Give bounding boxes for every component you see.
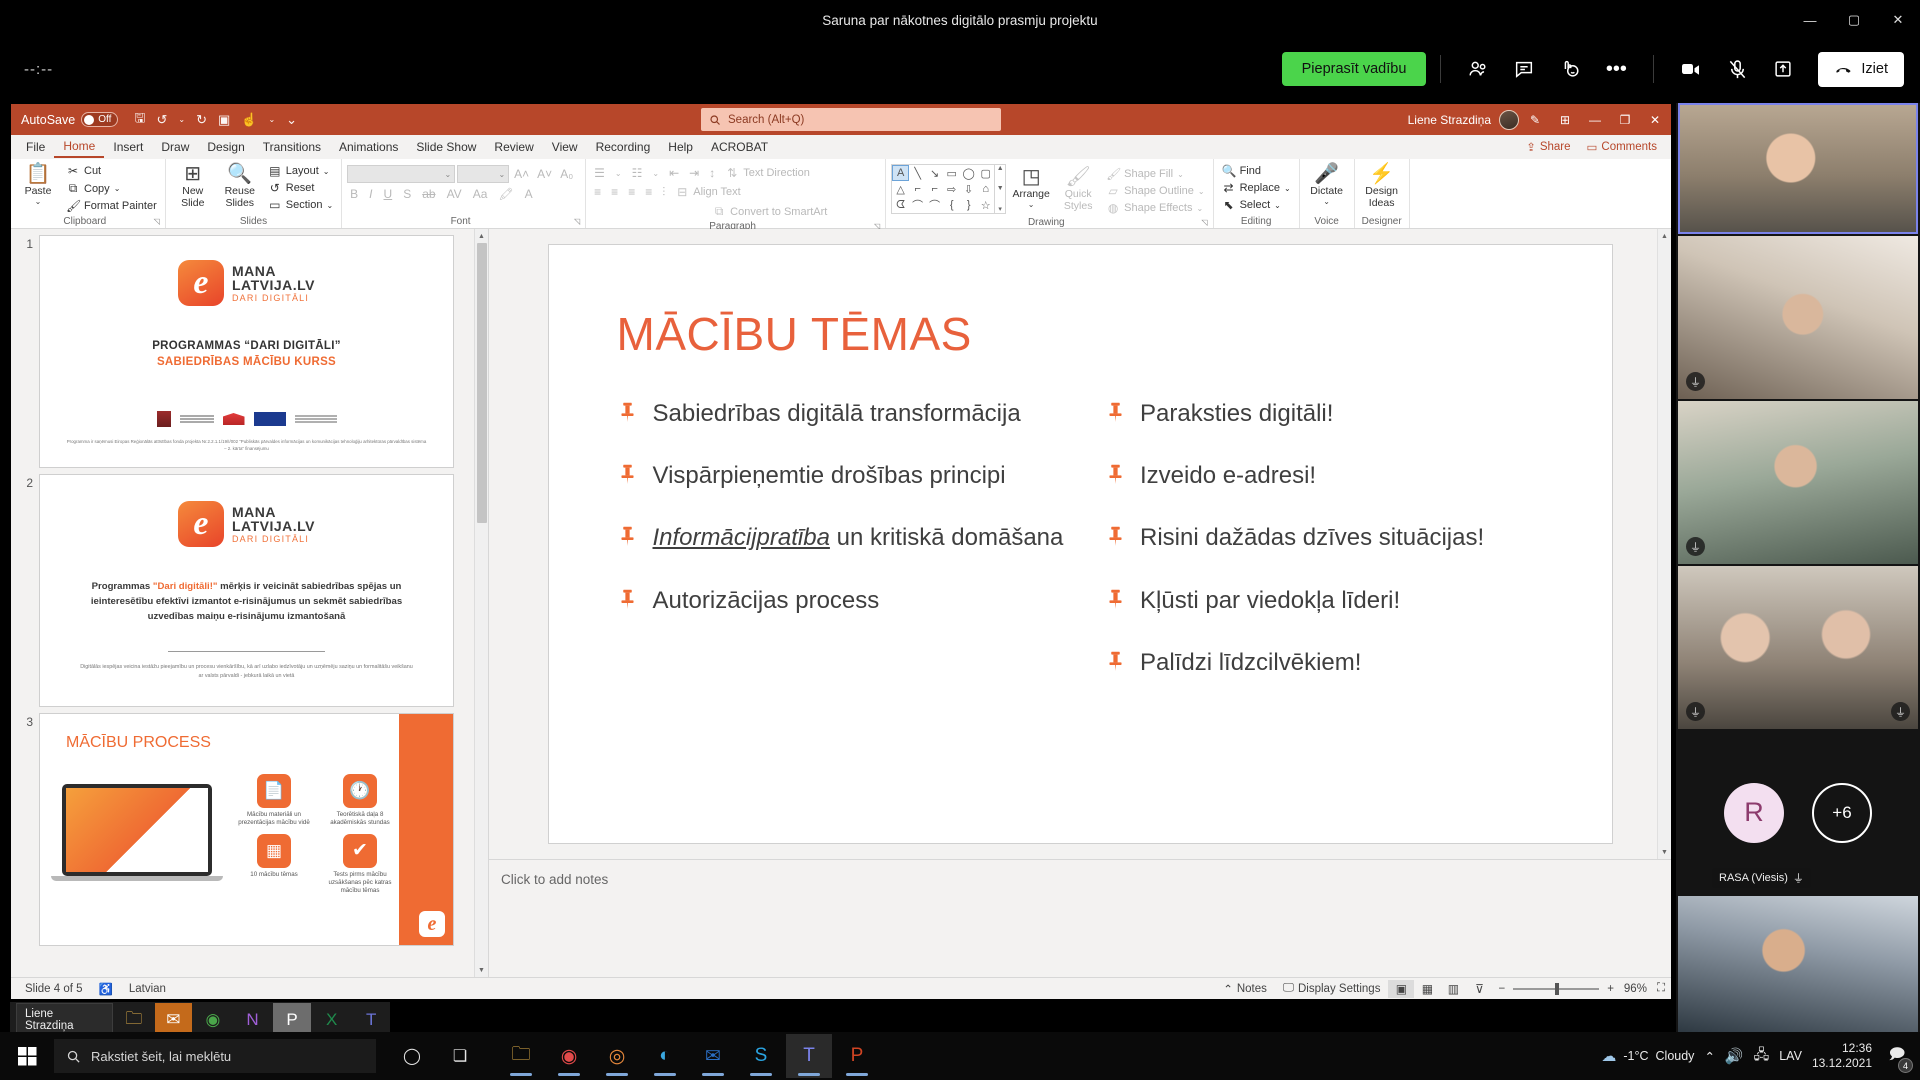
pushpin-icon: [617, 395, 639, 423]
text-direction-label: Text Direction: [743, 167, 810, 179]
stage-scrollbar[interactable]: ▲ ▼: [1657, 229, 1671, 859]
notes-label: Notes: [1237, 983, 1267, 995]
font-size-input[interactable]: ⌄: [457, 165, 509, 183]
thumbnails-scrollbar[interactable]: ▲ ▼: [474, 229, 488, 977]
share-screen-icon[interactable]: [1760, 49, 1806, 89]
speaker-icon[interactable]: 🔊: [1725, 1047, 1744, 1065]
windows-logo-icon: [18, 1047, 37, 1066]
share-button[interactable]: ⇪ Share: [1520, 138, 1576, 156]
shapes-more-icon[interactable]: ▾: [998, 205, 1002, 213]
clock-icon: 🕐: [343, 774, 377, 808]
ribbon-group-font: ⌄ ⌄ A˄ A˅ A₀ B I U S: [342, 159, 586, 228]
paste-chevron-icon[interactable]: ⌄: [35, 197, 42, 206]
participant-name-label: RASA (Viesis) ⏚: [1712, 868, 1811, 888]
autosave-state: Off: [98, 114, 111, 125]
ppt-status-bar: Slide 4 of 5 ♿ Latvian ⌃ Notes 🖵 Display…: [11, 977, 1671, 999]
windows-taskbar: Rakstiet šeit, lai meklētu ◯ ❏ 🗀 ◉ ◎ ◐ ✉…: [0, 1032, 1920, 1080]
tab-view[interactable]: View: [543, 137, 587, 157]
italic-button[interactable]: I: [366, 187, 375, 201]
ribbon-group-paragraph: ☰ ⌄ ☷ ⌄ ⇤ ⇥ ↕ ⇅ Text Direction ≡: [586, 159, 886, 228]
ppt-user-name: Liene Strazdiņa: [1408, 113, 1491, 127]
shapes-gallery[interactable]: A ╲ ↘ ▭ ◯ ▢ △ ⌐ ⌐ ⇨ ⇩ ⌂ ᗧ: [891, 164, 1006, 214]
touch-mode-icon[interactable]: ☝: [237, 110, 261, 130]
undo-icon[interactable]: ↺: [152, 110, 171, 130]
stage-canvas[interactable]: MĀCĪBU TĒMAS Sabiedrības digitālā transf…: [489, 229, 1671, 859]
normal-view-button[interactable]: ▣: [1388, 980, 1414, 998]
logo2-line2: LATVIJA.LV: [232, 519, 315, 533]
network-icon[interactable]: 🖧: [1754, 1044, 1770, 1068]
teams-close-button[interactable]: ✕: [1876, 0, 1920, 40]
shape-right-brace-icon[interactable]: }: [960, 197, 977, 213]
zoom-level[interactable]: 96%: [1624, 983, 1647, 995]
thumb3-tile-3: ▦ 10 mācību tēmas: [236, 834, 312, 896]
slide-title: MĀCĪBU TĒMAS: [617, 307, 1566, 361]
section-chevron-icon[interactable]: ⌄: [326, 201, 333, 210]
avatar-participant-tile[interactable]: R +6 RASA (Viesis) ⏚: [1678, 731, 1918, 894]
find-button[interactable]: 🔍 Find: [1219, 163, 1294, 179]
design-ideas-label: Design Ideas: [1360, 185, 1404, 209]
dictate-button[interactable]: 🎤 Dictate ⌄: [1305, 161, 1349, 206]
shape-pentagon-icon[interactable]: ⌂: [977, 181, 994, 197]
save-icon[interactable]: 🖫: [130, 107, 149, 133]
thumbnail-row-1[interactable]: 1 e MANA LATVIJA.LV DARI DIGITĀLI PROGRA…: [11, 229, 488, 468]
mic-muted-icon: ⏚: [1686, 702, 1705, 721]
e-logo-mark-2: e: [178, 501, 224, 547]
ppt-minimize-icon[interactable]: —: [1581, 107, 1609, 133]
notes-pane[interactable]: Click to add notes: [489, 859, 1671, 977]
voice-group-label: Voice: [1305, 215, 1349, 228]
new-slide-button[interactable]: ⊞ New Slide: [171, 161, 215, 209]
thumb1-heading-dark: PROGRAMMAS “DARI DIGITĀLI”: [40, 340, 453, 352]
search-icon: [66, 1049, 81, 1064]
participant-tile[interactable]: [1678, 896, 1918, 1032]
clear-formatting-icon[interactable]: A₀: [557, 167, 576, 181]
e-logo-mark: e: [178, 260, 224, 306]
shape-outline-chevron-icon[interactable]: ⌄: [1198, 187, 1205, 196]
shape-outline-label: Shape Outline: [1124, 185, 1194, 197]
section-icon: ▭: [268, 198, 282, 212]
chat-icon[interactable]: [1501, 49, 1547, 89]
mana-latvija-logo-2: e MANA LATVIJA.LV DARI DIGITĀLI: [40, 501, 453, 547]
pushpin-icon: [617, 457, 639, 485]
tab-draw[interactable]: Draw: [152, 137, 198, 157]
eu-flag-icon: [254, 412, 286, 426]
avatar[interactable]: [1499, 110, 1519, 130]
teams-minimize-button[interactable]: —: [1788, 0, 1832, 40]
fit-to-window-icon[interactable]: ⛶: [1657, 982, 1665, 995]
comments-icon: ▭: [1587, 140, 1598, 154]
avatar: R: [1724, 783, 1784, 843]
reset-label: Reset: [286, 182, 315, 194]
justify-icon[interactable]: ≡: [642, 185, 655, 199]
comments-button[interactable]: ▭ Comments: [1581, 138, 1663, 156]
quick-styles-button[interactable]: 🖌 Quick Styles: [1056, 164, 1100, 212]
thumbnail-slide-1[interactable]: e MANA LATVIJA.LV DARI DIGITĀLI PROGRAMM…: [39, 235, 454, 468]
underline-button[interactable]: U: [381, 187, 396, 201]
thumbnail-row-3[interactable]: 3 e MĀCĪBU PROCESS �: [11, 707, 488, 946]
language-indicator[interactable]: LAV: [1779, 1049, 1802, 1063]
thumbs-scroll-up-icon[interactable]: ▲: [475, 229, 488, 243]
firefox-icon[interactable]: ◎: [594, 1034, 640, 1078]
replace-icon: ⇄: [1222, 181, 1236, 195]
align-center-icon[interactable]: ≡: [608, 185, 621, 199]
logo-line1: MANA: [232, 264, 315, 278]
decrease-indent-icon[interactable]: ⇤: [666, 166, 682, 180]
thumb3-e-badge: e: [419, 911, 445, 937]
ribbon-group-clipboard: 📋 Paste ⌄ ✂ Cut ⧉ Copy ⌄: [11, 159, 166, 228]
arrange-button[interactable]: ◳ Arrange ⌄: [1009, 164, 1053, 209]
shape-down-arrow-icon[interactable]: ⇩: [960, 181, 977, 197]
notes-placeholder: Click to add notes: [501, 872, 608, 887]
new-slide-label: New Slide: [171, 185, 215, 209]
camera-icon[interactable]: [1668, 49, 1714, 89]
shape-left-brace-icon[interactable]: {: [943, 197, 960, 213]
line-spacing-icon[interactable]: ↕: [706, 166, 718, 180]
teams-icon[interactable]: T: [786, 1034, 832, 1078]
bullet-item: Vispārpieņemtie drošības principi: [617, 457, 1079, 494]
reading-view-button[interactable]: ▥: [1440, 980, 1466, 998]
powerpoint-window: AutoSave Off 🖫 ↺ ⌄ ↻ ▣ ☝ ⌄ ⌄ Sabiedribas…: [10, 103, 1672, 1000]
shape-rect-icon[interactable]: ▭: [943, 165, 960, 181]
copy-button[interactable]: ⧉ Copy ⌄: [63, 180, 160, 197]
participant-tile[interactable]: ⏚: [1678, 401, 1918, 564]
arrange-chevron-icon[interactable]: ⌄: [1028, 200, 1035, 209]
thumb2-body-prefix: Programmas: [92, 581, 153, 592]
overflow-participants-badge[interactable]: +6: [1812, 783, 1872, 843]
tab-file[interactable]: File: [17, 137, 54, 157]
leave-label: Iziet: [1861, 61, 1888, 77]
taskbar-search-input[interactable]: Rakstiet šeit, lai meklētu: [54, 1039, 376, 1073]
pushpin-icon: [1104, 519, 1126, 547]
autosave-toggle[interactable]: AutoSave Off: [21, 112, 118, 127]
thumb2-divider: [168, 651, 325, 652]
format-painter-button[interactable]: 🖌 Format Painter: [63, 198, 160, 214]
reuse-slides-label: Reuse Slides: [218, 185, 262, 209]
zoom-slider[interactable]: [1513, 988, 1599, 990]
align-right-icon[interactable]: ≡: [625, 185, 638, 199]
thumbnail-number-3: 3: [19, 713, 39, 946]
font-color-icon[interactable]: A: [522, 187, 536, 201]
shapes-scroll-up-icon[interactable]: ▲: [997, 165, 1004, 172]
autosave-switch[interactable]: Off: [81, 112, 118, 127]
search-input[interactable]: Search (Alt+Q): [701, 108, 1001, 131]
text-highlight-icon[interactable]: 🖍: [495, 187, 516, 201]
teams-title-bar: Saruna par nākotnes digitālo prasmju pro…: [0, 0, 1920, 40]
copy-chevron-icon[interactable]: ⌄: [114, 184, 121, 193]
teams-toolbar-actions: Pieprasīt vadību •••: [1282, 49, 1920, 89]
thumbs-scroll-thumb[interactable]: [477, 243, 487, 523]
outlook-icon[interactable]: ✉: [690, 1034, 736, 1078]
start-slideshow-icon[interactable]: ▣: [214, 110, 234, 130]
thumb3-caption-4: Tests pirms mācību uzsākšanas pēc katras…: [322, 871, 398, 896]
tray-chevron-icon[interactable]: ⌃: [1704, 1049, 1714, 1064]
thumbs-scroll-down-icon[interactable]: ▼: [475, 963, 488, 977]
file-explorer-icon[interactable]: 🗀: [498, 1034, 544, 1078]
change-case-button[interactable]: Aa: [470, 187, 491, 201]
bullet-text: Paraksties digitāli!: [1140, 395, 1333, 432]
shape-elbow-icon[interactable]: ⌐: [909, 181, 926, 197]
increase-indent-icon[interactable]: ⇥: [686, 166, 702, 180]
shape-textbox-icon[interactable]: A: [892, 165, 909, 181]
reuse-slides-icon: 🔍: [227, 163, 252, 185]
thumb3-tile-1: 📄 Mācību materiāli un prezentācijas mācī…: [236, 774, 312, 828]
tab-slide-show[interactable]: Slide Show: [407, 137, 485, 157]
tab-recording[interactable]: Recording: [587, 137, 660, 157]
notes-icon: ⌃: [1223, 982, 1233, 996]
font-dialog-launcher[interactable]: ◹: [574, 215, 580, 228]
increase-font-size-icon[interactable]: A˄: [511, 167, 532, 181]
cut-button[interactable]: ✂ Cut: [63, 163, 160, 179]
shape-fill-chevron-icon[interactable]: ⌄: [1177, 170, 1184, 179]
ribbon: 📋 Paste ⌄ ✂ Cut ⧉ Copy ⌄: [11, 159, 1671, 229]
customize-qat-icon[interactable]: ⌄: [282, 110, 301, 130]
stage-scroll-down-icon[interactable]: ▼: [1658, 845, 1671, 859]
slide-indicator[interactable]: Slide 4 of 5: [17, 983, 91, 995]
bold-button[interactable]: B: [347, 187, 361, 201]
bullets-chevron-icon[interactable]: ⌄: [612, 169, 625, 178]
shape-outline-button[interactable]: ▱ Shape Outline ⌄: [1103, 183, 1207, 199]
thumbnail-slide-3[interactable]: e MĀCĪBU PROCESS 📄 Mācību materiāli un: [39, 713, 454, 946]
logo-line2: LATVIJA.LV: [232, 278, 315, 292]
font-size-chevron-icon[interactable]: ⌄: [498, 170, 505, 179]
cloud-icon: ☁: [1601, 1047, 1616, 1065]
bullet-item: Informācijpratība un kritiskā domāšana: [617, 519, 1079, 556]
teams-maximize-button[interactable]: ▢: [1832, 0, 1876, 40]
ribbon-tabs: File Home Insert Draw Design Transitions…: [11, 135, 1671, 159]
mic-muted-icon: ⏚: [1686, 537, 1705, 556]
zoom-slider-handle[interactable]: [1555, 983, 1559, 995]
align-text-icon: ⊟: [675, 185, 689, 199]
designer-group-label: Designer: [1360, 215, 1404, 228]
cortana-icon[interactable]: ◯: [390, 1034, 434, 1078]
participant-tile[interactable]: ⏚: [1678, 236, 1918, 399]
shape-star-icon[interactable]: ☆: [977, 197, 994, 213]
bullet-text: Risini dažādas dzīves situācijas!: [1140, 519, 1484, 556]
section-label: Section: [286, 199, 323, 211]
undo-chevron-icon[interactable]: ⌄: [174, 113, 189, 126]
touch-chevron-icon[interactable]: ⌄: [264, 113, 279, 126]
autosave-knob: [84, 115, 94, 125]
reset-icon: ↺: [268, 181, 282, 195]
pushpin-icon: [617, 582, 639, 610]
current-slide[interactable]: MĀCĪBU TĒMAS Sabiedrības digitālā transf…: [549, 245, 1612, 843]
section-button[interactable]: ▭ Section ⌄: [265, 197, 336, 213]
edge-icon[interactable]: ◐: [642, 1034, 688, 1078]
bullet-text: Palīdzi līdzcilvēkiem!: [1140, 644, 1361, 681]
shapes-grid[interactable]: A ╲ ↘ ▭ ◯ ▢ △ ⌐ ⌐ ⇨ ⇩ ⌂ ᗧ: [891, 164, 995, 214]
tab-acrobat[interactable]: ACROBAT: [702, 137, 777, 157]
arrange-label: Arrange: [1012, 188, 1049, 200]
skype-icon[interactable]: S: [738, 1034, 784, 1078]
font-name-chevron-icon[interactable]: ⌄: [444, 170, 451, 179]
shape-fill-button[interactable]: 🖌 Shape Fill ⌄: [1103, 166, 1207, 182]
bullets-icon[interactable]: ☰: [591, 166, 608, 180]
tab-home[interactable]: Home: [54, 136, 104, 158]
ribbon-group-slides: ⊞ New Slide 🔍 Reuse Slides ▤ Layout ⌄: [166, 159, 342, 228]
tab-review[interactable]: Review: [485, 137, 542, 157]
design-ideas-icon: ⚡: [1369, 163, 1394, 185]
coat-of-arms-icon: [157, 411, 171, 427]
participant-video: [1678, 896, 1918, 1032]
font-group-label: Font◹: [347, 215, 580, 228]
comments-label: Comments: [1601, 141, 1657, 153]
redo-icon[interactable]: ↻: [192, 110, 211, 130]
select-button[interactable]: ⬉ Select ⌄: [1219, 197, 1294, 213]
slideshow-button[interactable]: ⊽: [1466, 980, 1492, 998]
weather-widget[interactable]: ☁ -1°C Cloudy: [1601, 1047, 1694, 1065]
shape-arrow-icon[interactable]: ↘: [926, 165, 943, 181]
mic-muted-icon[interactable]: [1714, 49, 1760, 89]
reset-button[interactable]: ↺ Reset: [265, 180, 336, 196]
shape-roundrect-icon[interactable]: ▢: [977, 165, 994, 181]
zoom-in-button[interactable]: +: [1607, 983, 1614, 995]
shape-effects-chevron-icon[interactable]: ⌄: [1196, 204, 1203, 213]
request-control-button[interactable]: Pieprasīt vadību: [1282, 52, 1427, 86]
pushpin-icon: [1104, 582, 1126, 610]
editing-group-label: Editing: [1219, 215, 1294, 228]
mic-muted-icon: ⏚: [1686, 372, 1705, 391]
dictate-chevron-icon[interactable]: ⌄: [1323, 197, 1330, 206]
accessibility-icon[interactable]: ♿: [91, 982, 121, 996]
ppt-close-icon[interactable]: ✕: [1641, 107, 1669, 133]
thumb3-caption-2: Teorētiskā daļa 8 akadēmiskās stundas: [322, 811, 398, 828]
columns-icon[interactable]: ⫶: [659, 185, 668, 200]
tab-insert[interactable]: Insert: [104, 137, 152, 157]
layout-button[interactable]: ▤ Layout ⌄: [265, 163, 336, 179]
shape-fill-icon: 🖌: [1106, 167, 1120, 181]
thumb1-funding-logos: [40, 411, 453, 427]
bullet-item: Paraksties digitāli!: [1104, 395, 1566, 432]
tab-animations[interactable]: Animations: [330, 137, 407, 157]
replace-chevron-icon[interactable]: ⌄: [1284, 184, 1291, 193]
shapes-scrollbar[interactable]: ▲ ▼ ▾: [995, 164, 1006, 214]
shape-curve-icon[interactable]: ⌒: [926, 197, 943, 213]
logo-tagline: DARI DIGITĀLI: [232, 294, 315, 303]
drawing-dialog-launcher[interactable]: ◹: [1201, 216, 1207, 229]
share-icon: ⇪: [1526, 140, 1536, 154]
format-painter-label: Format Painter: [84, 200, 157, 212]
opera-icon[interactable]: ◉: [546, 1034, 592, 1078]
font-name-input[interactable]: ⌄: [347, 165, 455, 183]
shape-right-arrow-icon[interactable]: ⇨: [943, 181, 960, 197]
convert-to-smartart-button[interactable]: ⧉ Convert to SmartArt: [709, 203, 830, 220]
slide-thumbnails-panel[interactable]: 1 e MANA LATVIJA.LV DARI DIGITĀLI PROGRA…: [11, 229, 489, 977]
ministry-logo-icon: [180, 415, 214, 424]
display-settings-button[interactable]: 🖵 Display Settings: [1275, 982, 1389, 995]
tab-design[interactable]: Design: [198, 137, 253, 157]
meeting-title: Saruna par nākotnes digitālo prasmju pro…: [822, 13, 1097, 28]
hangup-icon: [1834, 60, 1853, 79]
tab-help[interactable]: Help: [659, 137, 702, 157]
select-icon: ⬉: [1222, 198, 1236, 212]
participant-tile[interactable]: [1678, 103, 1918, 234]
numbering-chevron-icon[interactable]: ⌄: [649, 169, 662, 178]
meeting-timer: --:--: [24, 61, 53, 78]
ribbon-group-voice: 🎤 Dictate ⌄ Voice: [1300, 159, 1355, 228]
text-direction-button[interactable]: ⇅ Text Direction: [722, 165, 813, 181]
shape-effects-button[interactable]: ◍ Shape Effects ⌄: [1103, 200, 1207, 216]
language-indicator[interactable]: Latvian: [121, 983, 174, 995]
decrease-font-size-icon[interactable]: A˅: [534, 167, 555, 181]
align-text-button[interactable]: ⊟ Align Text: [672, 184, 744, 200]
select-label: Select: [1240, 199, 1271, 211]
zoom-out-button[interactable]: −: [1498, 983, 1505, 995]
shape-triangle-icon[interactable]: △: [892, 181, 909, 197]
pen-icon[interactable]: ✎: [1521, 107, 1549, 133]
paste-button[interactable]: 📋 Paste ⌄: [16, 161, 60, 206]
clipboard-dialog-launcher[interactable]: ◹: [154, 215, 160, 228]
shape-scribble-icon[interactable]: ᗧ: [892, 197, 909, 213]
ppt-body: 1 e MANA LATVIJA.LV DARI DIGITĀLI PROGRA…: [11, 229, 1671, 977]
notification-center-button[interactable]: 🗩 4: [1882, 1041, 1912, 1071]
align-left-icon[interactable]: ≡: [591, 185, 604, 199]
text-shadow-button[interactable]: S: [400, 187, 414, 201]
people-icon[interactable]: [1455, 49, 1501, 89]
ribbon-right-actions: ⇪ Share ▭ Comments: [1520, 138, 1671, 156]
reactions-icon[interactable]: [1547, 49, 1593, 89]
thumb3-tile-2: 🕐 Teorētiskā daļa 8 akadēmiskās stundas: [322, 774, 398, 828]
system-tray: ☁ -1°C Cloudy ⌃ 🔊 🖧 LAV 12:36 13.12.2021…: [1601, 1041, 1920, 1071]
bullet-rest: un kritiskā domāšana: [830, 524, 1063, 551]
ribbon-display-options-icon[interactable]: ⊞: [1551, 107, 1579, 133]
leave-button[interactable]: Iziet: [1818, 52, 1904, 87]
notes-button[interactable]: ⌃ Notes: [1215, 982, 1275, 996]
thumbnail-row-2[interactable]: 2 e MANA LATVIJA.LV DARI DIGITĀLI Progra…: [11, 468, 488, 707]
bullet-text: Informācijpratība un kritiskā domāšana: [653, 519, 1064, 556]
bullet-text: Autorizācijas process: [653, 582, 880, 619]
strikethrough-button[interactable]: ab: [419, 187, 438, 201]
bullet-item: Autorizācijas process: [617, 582, 1079, 619]
slide-sorter-button[interactable]: ▦: [1414, 980, 1440, 998]
clock-date: 13.12.2021: [1812, 1056, 1872, 1071]
pushpin-icon: [1104, 457, 1126, 485]
layout-chevron-icon[interactable]: ⌄: [323, 167, 330, 176]
shape-fill-label: Shape Fill: [1124, 168, 1173, 180]
shape-oval-icon[interactable]: ◯: [960, 165, 977, 181]
start-button[interactable]: [0, 1032, 54, 1080]
reuse-slides-button[interactable]: 🔍 Reuse Slides: [218, 161, 262, 209]
thumb3-caption-3: 10 mācību tēmas: [236, 871, 312, 879]
task-view-icon[interactable]: ❏: [438, 1034, 482, 1078]
taskbar-apps: 🗀 ◉ ◎ ◐ ✉ S T P: [498, 1034, 880, 1078]
ribbon-group-designer: ⚡ Design Ideas Designer: [1355, 159, 1410, 228]
slide-stage: MĀCĪBU TĒMAS Sabiedrības digitālā transf…: [489, 229, 1671, 977]
participant-tile[interactable]: ⏚ ⏚: [1678, 566, 1918, 729]
shape-line-icon[interactable]: ╲: [909, 165, 926, 181]
design-ideas-button[interactable]: ⚡ Design Ideas: [1360, 161, 1404, 209]
layout-icon: ▤: [268, 164, 282, 178]
select-chevron-icon[interactable]: ⌄: [1274, 201, 1281, 210]
thumbnail-slide-2[interactable]: e MANA LATVIJA.LV DARI DIGITĀLI Programm…: [39, 474, 454, 707]
scissors-icon: ✂: [66, 164, 80, 178]
layout-label: Layout: [286, 165, 319, 177]
replace-button[interactable]: ⇄ Replace ⌄: [1219, 180, 1294, 196]
document-icon: 📄: [257, 774, 291, 808]
shape-connector-icon[interactable]: ⌐: [926, 181, 943, 197]
stage-scroll-up-icon[interactable]: ▲: [1658, 229, 1671, 243]
character-spacing-button[interactable]: AV: [444, 187, 465, 201]
clock[interactable]: 12:36 13.12.2021: [1812, 1041, 1872, 1071]
numbering-icon[interactable]: ☷: [629, 166, 646, 180]
check-icon: ✔: [343, 834, 377, 868]
shape-arc-icon[interactable]: ⌒: [909, 197, 926, 213]
shapes-scroll-down-icon[interactable]: ▼: [997, 185, 1004, 192]
more-options-icon[interactable]: •••: [1593, 49, 1639, 89]
tab-transitions[interactable]: Transitions: [254, 137, 330, 157]
ppt-restore-icon[interactable]: ❐: [1611, 107, 1639, 133]
arrange-icon: ◳: [1022, 166, 1041, 188]
powerpoint-icon[interactable]: P: [834, 1034, 880, 1078]
